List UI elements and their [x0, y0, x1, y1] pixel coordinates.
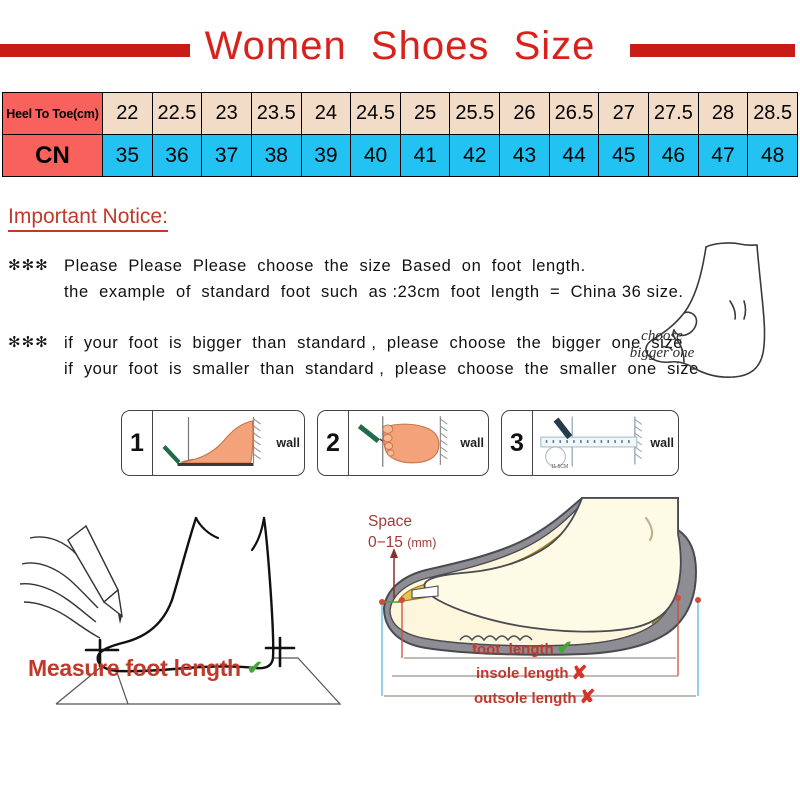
- measure-caption-text: Measure foot length: [28, 655, 241, 682]
- step-1-number: 1: [122, 411, 153, 475]
- row-header-cn: CN: [3, 135, 103, 177]
- table-row-heel-to-toe: Heel To Toe(cm) 22 22.5 23 23.5 24 24.5 …: [3, 93, 798, 135]
- important-notice-section: Important Notice: ✻✻✻ Please Please Plea…: [0, 177, 800, 382]
- step-1: 1 wall: [121, 410, 305, 476]
- cell-cm-6: 25: [400, 93, 450, 135]
- length-legend: foot length ✔ insole length ✘ outsole le…: [472, 637, 595, 710]
- cell-cn-7: 42: [450, 135, 500, 177]
- cell-cn-0: 35: [103, 135, 153, 177]
- cell-cm-10: 27: [599, 93, 649, 135]
- space-label-line-1: Space: [368, 512, 436, 533]
- cell-cm-0: 22: [103, 93, 153, 135]
- cell-cn-2: 37: [202, 135, 252, 177]
- cell-cm-1: 22.5: [152, 93, 202, 135]
- asterisk-marker-icon: ✻✻✻: [8, 254, 64, 280]
- hand-tracing-foot-icon: [0, 490, 360, 718]
- step-2-illustration: wall: [349, 411, 488, 475]
- shoe-cross-section-panel: Space 0−15 (mm) foot length ✔ insole len…: [360, 490, 800, 718]
- header-bar-right: [630, 44, 795, 57]
- cell-cm-7: 25.5: [450, 93, 500, 135]
- foot-caption-line-2: bigger one: [602, 345, 722, 362]
- notice-title: Important Notice:: [8, 205, 168, 232]
- space-label-unit: (mm): [407, 536, 436, 550]
- cell-cn-10: 45: [599, 135, 649, 177]
- step-1-wall-label: wall: [276, 436, 300, 450]
- step-3-illustration: 11.5CM wall: [533, 411, 678, 475]
- cell-cn-11: 46: [649, 135, 699, 177]
- cell-cm-4: 24: [301, 93, 351, 135]
- page-title: Women Shoes Size: [193, 26, 608, 66]
- cell-cn-4: 39: [301, 135, 351, 177]
- cell-cn-3: 38: [251, 135, 301, 177]
- legend-row-insole-length: insole length ✘: [472, 662, 595, 686]
- foot-caption-line-1: choose: [602, 328, 722, 345]
- cross-mark-icon: ✘: [580, 686, 596, 710]
- foot-side-view-icon: [644, 235, 794, 410]
- cell-cm-13: 28.5: [748, 93, 798, 135]
- step-1-illustration: wall: [153, 411, 304, 475]
- cell-cm-11: 27.5: [649, 93, 699, 135]
- cell-cn-5: 40: [351, 135, 401, 177]
- measure-foot-length-panel: Measure foot length ✔: [0, 490, 360, 718]
- cell-cn-9: 44: [549, 135, 599, 177]
- row-header-heel-to-toe: Heel To Toe(cm): [3, 93, 103, 135]
- step-3-number: 3: [502, 411, 533, 475]
- bottom-illustrations: Measure foot length ✔: [0, 490, 800, 718]
- cell-cn-1: 36: [152, 135, 202, 177]
- legend-label: outsole length: [474, 689, 577, 708]
- cell-cm-2: 23: [202, 93, 252, 135]
- notice-text: if your foot is bigger than standard , p…: [64, 331, 683, 357]
- cell-cn-13: 48: [748, 135, 798, 177]
- measure-caption: Measure foot length ✔: [28, 655, 263, 682]
- cell-cn-12: 47: [698, 135, 748, 177]
- step-2-wall-label: wall: [460, 436, 484, 450]
- notice-text: Please Please Please choose the size Bas…: [64, 254, 586, 280]
- legend-label: foot length: [472, 640, 554, 659]
- legend-row-outsole-length: outsole length ✘: [472, 686, 595, 710]
- table-row-cn: CN 35 36 37 38 39 40 41 42 43 44 45 46 4…: [3, 135, 798, 177]
- legend-row-foot-length: foot length ✔: [472, 637, 595, 661]
- legend-label: insole length: [476, 664, 569, 683]
- check-mark-icon: ✔: [247, 657, 263, 680]
- step-3: 3: [501, 410, 679, 476]
- cell-cm-12: 28: [698, 93, 748, 135]
- step-2-number: 2: [318, 411, 349, 475]
- notice-text: the example of standard foot such as :23…: [64, 280, 684, 306]
- page-header: Women Shoes Size: [0, 0, 800, 92]
- cell-cm-3: 23.5: [251, 93, 301, 135]
- measurement-steps: 1 wall 2: [0, 410, 800, 476]
- foot-sketch-caption: choose bigger one: [602, 328, 722, 362]
- cell-cm-5: 24.5: [351, 93, 401, 135]
- space-label-value: 0−15: [368, 534, 403, 551]
- step-3-ruler-reading: 11.5CM: [551, 464, 568, 470]
- size-table-container: Heel To Toe(cm) 22 22.5 23 23.5 24 24.5 …: [0, 92, 800, 177]
- cell-cn-8: 43: [500, 135, 550, 177]
- cell-cm-8: 26: [500, 93, 550, 135]
- cross-mark-icon: ✘: [572, 662, 588, 686]
- asterisk-marker-icon: ✻✻✻: [8, 331, 64, 357]
- step-3-wall-label: wall: [650, 436, 674, 450]
- check-mark-icon: ✔: [557, 637, 573, 661]
- step-2: 2 wall: [317, 410, 489, 476]
- cell-cm-9: 26.5: [549, 93, 599, 135]
- size-conversion-table: Heel To Toe(cm) 22 22.5 23 23.5 24 24.5 …: [2, 92, 798, 177]
- header-bar-left: [0, 44, 190, 57]
- space-measurement-label: Space 0−15 (mm): [368, 512, 436, 554]
- cell-cn-6: 41: [400, 135, 450, 177]
